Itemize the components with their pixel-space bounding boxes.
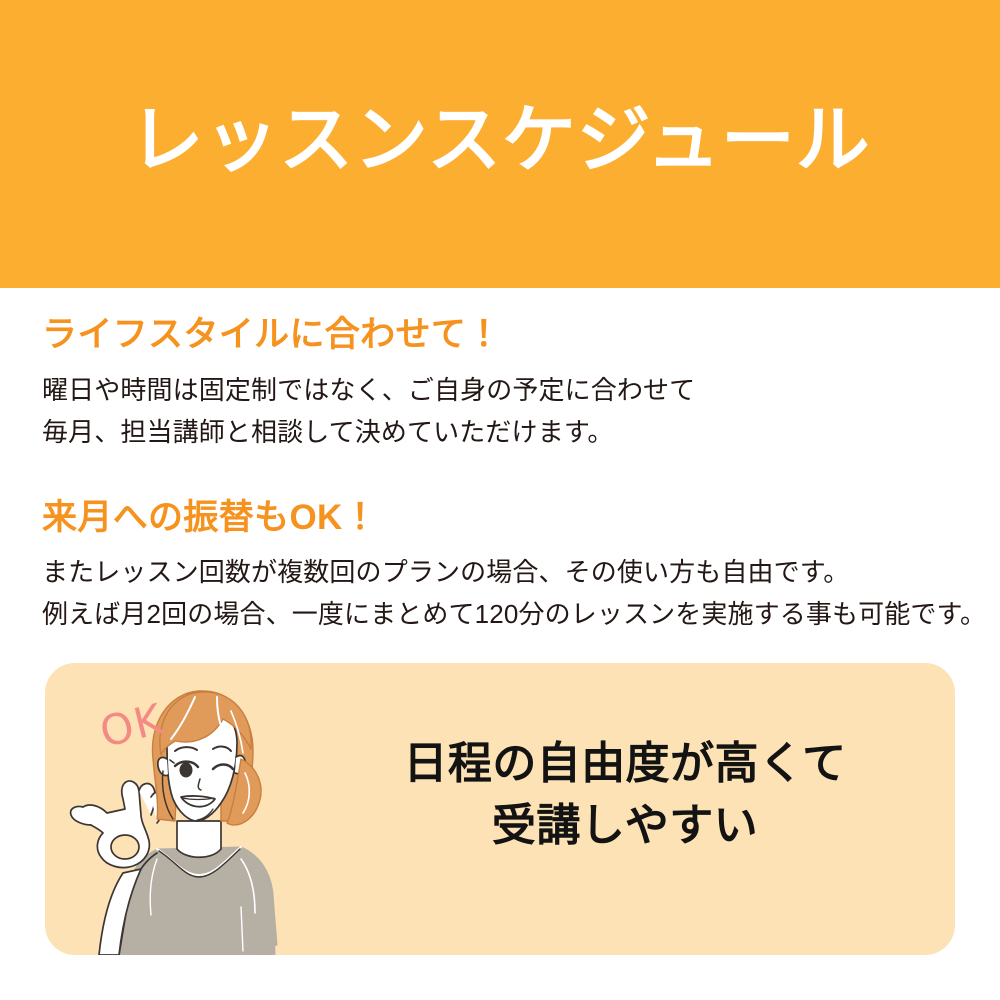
body-line: またレッスン回数が複数回のプランの場合、その使い方も自由です。 [42,551,958,593]
body-line: 例えば月2回の場合、一度にまとめて120分のレッスンを実施する事も可能です。 [42,593,958,635]
section-lifestyle-body: 曜日や時間は固定制ではなく、ご自身の予定に合わせて 毎月、担当講師と相談して決め… [42,369,958,453]
card-text-line: 日程の自由度が高くて [345,733,905,795]
section-carryover-heading: 来月への振替もOK！ [42,499,958,538]
content-area: ライフスタイルに合わせて！ 曜日や時間は固定制ではなく、ご自身の予定に合わせて … [0,288,1000,635]
header-banner: レッスンスケジュール [0,0,1000,288]
body-line: 毎月、担当講師と相談して決めていただけます。 [42,411,958,453]
woman-ok-gesture-illustration [45,663,365,955]
highlight-card-text: 日程の自由度が高くて 受講しやすい [345,733,905,858]
section-lifestyle: ライフスタイルに合わせて！ 曜日や時間は固定制ではなく、ご自身の予定に合わせて … [0,316,1000,453]
section-lifestyle-heading: ライフスタイルに合わせて！ [42,316,958,355]
section-carryover: 来月への振替もOK！ またレッスン回数が複数回のプランの場合、その使い方も自由で… [0,499,1000,636]
card-text-line: 受講しやすい [345,795,905,857]
body-line: 曜日や時間は固定制ではなく、ご自身の予定に合わせて [42,369,958,411]
section-carryover-body: またレッスン回数が複数回のプランの場合、その使い方も自由です。 例えば月2回の場… [42,551,958,635]
page-title: レッスンスケジュール [130,103,871,177]
highlight-card: OK 日程の自由度が高くて 受講しやすい [45,663,955,955]
